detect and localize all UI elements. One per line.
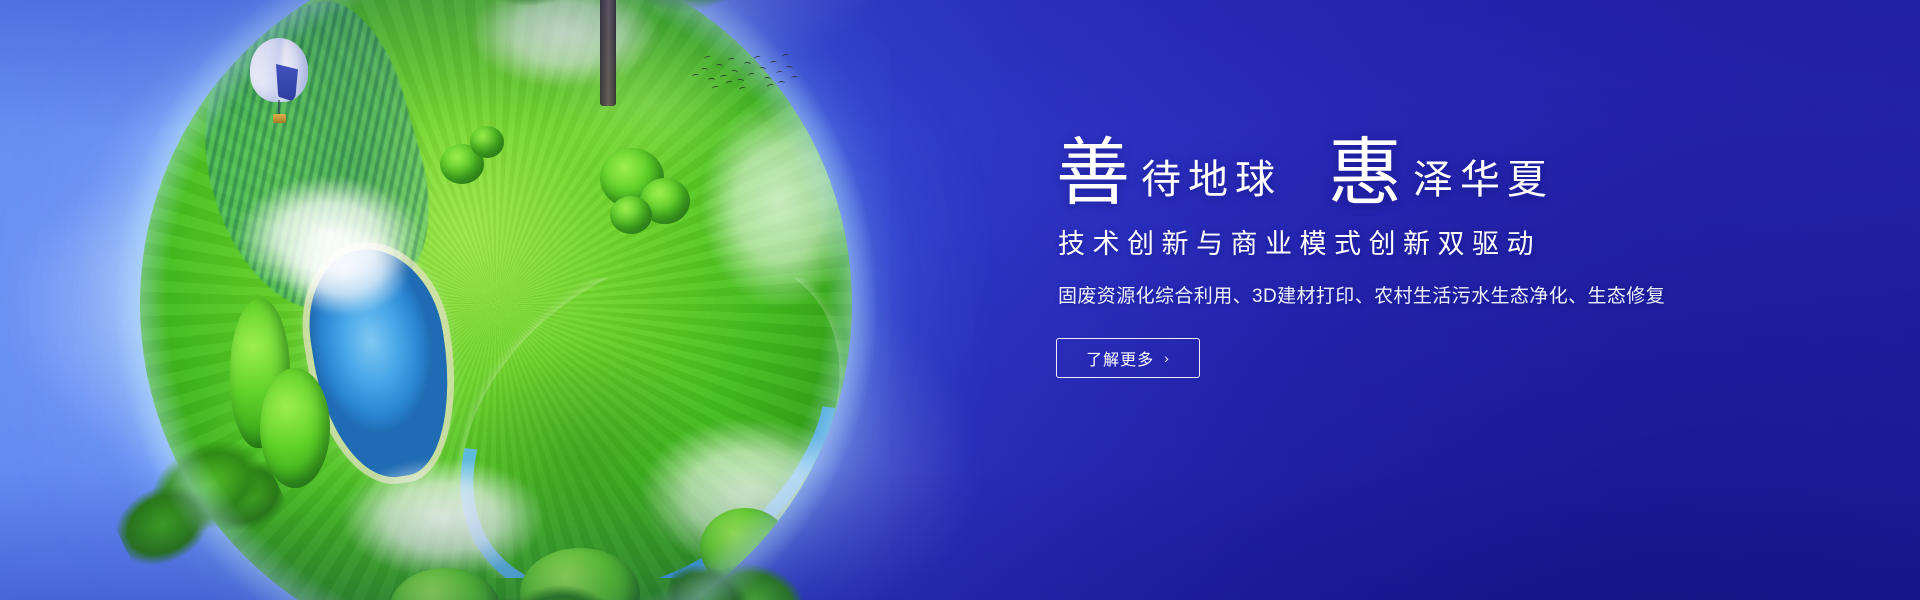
subtitle: 技术创新与商业模式创新双驱动 [1058, 222, 1756, 261]
banner-content: 善 待地球 惠 泽华夏 技术创新与商业模式创新双驱动 固废资源化综合利用、3D建… [1056, 132, 1756, 378]
headline-lead-char-2: 惠 [1328, 136, 1403, 210]
headline-rest-1: 待地球 [1131, 160, 1282, 206]
chevron-right-icon: › [1164, 350, 1170, 366]
hero-banner: 善 待地球 惠 泽华夏 技术创新与商业模式创新双驱动 固废资源化综合利用、3D建… [0, 0, 1920, 600]
headline-lead-char-1: 善 [1056, 136, 1131, 210]
learn-more-label: 了解更多 [1086, 346, 1154, 370]
headline: 善 待地球 惠 泽华夏 [1056, 132, 1756, 206]
learn-more-button[interactable]: 了解更多 › [1056, 338, 1200, 378]
headline-rest-2: 泽华夏 [1403, 160, 1554, 206]
description: 固废资源化综合利用、3D建材打印、农村生活污水生态净化、生态修复 [1058, 281, 1756, 308]
